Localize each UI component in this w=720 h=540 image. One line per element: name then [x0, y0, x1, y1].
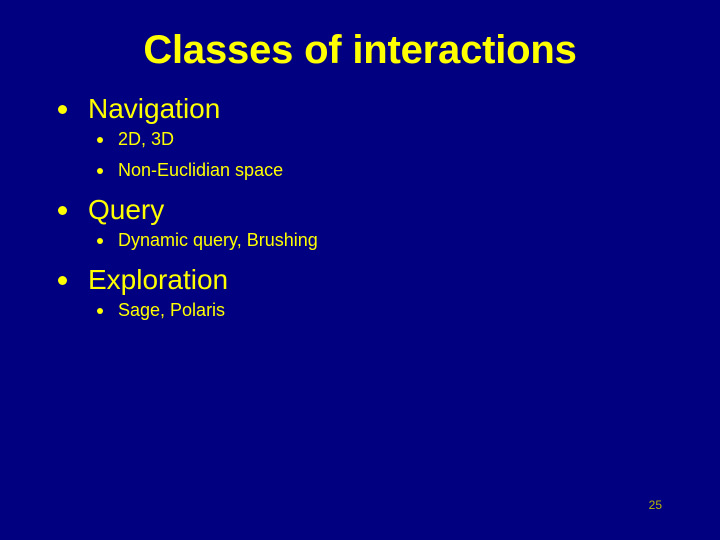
group-spacer — [0, 252, 720, 263]
bullet-item-level2-label: Dynamic query, Brushing — [118, 230, 318, 250]
disc-bullet-icon — [97, 238, 103, 244]
disc-bullet-icon — [58, 276, 67, 285]
bullet-group: Query Dynamic query, Brushing — [0, 193, 720, 252]
bullet-item-level2-label: Sage, Polaris — [118, 300, 225, 320]
bullet-item-level2[interactable]: Dynamic query, Brushing — [0, 229, 720, 252]
bullet-item-level1-label: Query — [88, 194, 164, 225]
slide-page-number: 25 — [649, 498, 662, 512]
slide-body-bullet-list: Navigation 2D, 3D Non-Euclidian space Qu… — [0, 92, 720, 322]
bullet-item-level1-label: Navigation — [88, 93, 220, 124]
bullet-item-level2-label: Non-Euclidian space — [118, 160, 283, 180]
bullet-item-level2-label: 2D, 3D — [118, 129, 174, 149]
bullet-group: Exploration Sage, Polaris — [0, 263, 720, 322]
group-spacer — [0, 182, 720, 193]
disc-bullet-icon — [97, 308, 103, 314]
bullet-item-level1[interactable]: Navigation — [0, 92, 720, 126]
bullet-item-level2[interactable]: Non-Euclidian space — [0, 159, 720, 182]
bullet-item-level2[interactable]: 2D, 3D — [0, 128, 720, 151]
bullet-group: Navigation 2D, 3D Non-Euclidian space — [0, 92, 720, 182]
disc-bullet-icon — [97, 168, 103, 174]
disc-bullet-icon — [58, 105, 67, 114]
presentation-slide: Classes of interactions Navigation 2D, 3… — [0, 0, 720, 540]
bullet-item-level1-label: Exploration — [88, 264, 228, 295]
bullet-item-level1[interactable]: Exploration — [0, 263, 720, 297]
bullet-item-level1[interactable]: Query — [0, 193, 720, 227]
disc-bullet-icon — [97, 137, 103, 143]
disc-bullet-icon — [58, 206, 67, 215]
bullet-item-level2[interactable]: Sage, Polaris — [0, 299, 720, 322]
slide-title: Classes of interactions — [0, 26, 720, 74]
